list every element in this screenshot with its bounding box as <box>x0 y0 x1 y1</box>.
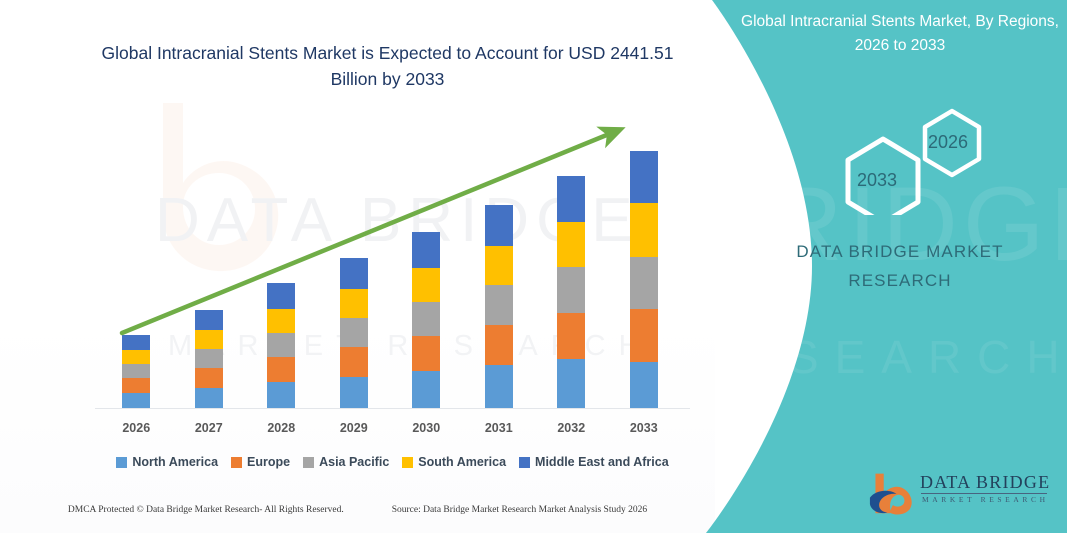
data-bridge-logo: DATA BRIDGE MARKET RESEARCH <box>868 468 1053 520</box>
bar-2032 <box>557 176 585 408</box>
hexagon-outlines-icon <box>720 85 1067 215</box>
bar-2030 <box>412 232 440 408</box>
legend-item[interactable]: South America <box>402 455 506 469</box>
legend-item[interactable]: Europe <box>231 455 290 469</box>
x-label-2031: 2031 <box>469 421 529 435</box>
legend-item[interactable]: North America <box>116 455 218 469</box>
x-label-2027: 2027 <box>179 421 239 435</box>
left-chart-panel: DATA BRIDGE MARKET RESEARCH Global Intra… <box>0 0 715 533</box>
bar-segment <box>485 285 513 325</box>
bar-segment <box>195 330 223 349</box>
bar-segment <box>340 258 368 289</box>
x-label-2026: 2026 <box>106 421 166 435</box>
bar-segment <box>557 313 585 359</box>
bar-segment <box>557 222 585 267</box>
bar-segment <box>412 302 440 336</box>
bar-segment <box>630 257 658 309</box>
legend-label: Asia Pacific <box>319 455 389 469</box>
right-watermark-research: RESEARCH <box>692 330 1067 384</box>
bar-segment <box>122 378 150 393</box>
bar-segment <box>267 333 295 357</box>
x-label-2033: 2033 <box>614 421 674 435</box>
bar-segment <box>122 393 150 408</box>
chart-x-axis-labels: 20262027202820292030203120322033 <box>100 421 680 443</box>
bar-segment <box>267 283 295 309</box>
bar-segment <box>485 246 513 285</box>
right-panel-title: Global Intracranial Stents Market, By Re… <box>740 10 1060 58</box>
brand-line-1: DATA BRIDGE MARKET <box>796 242 1003 261</box>
footer: DMCA Protected © Data Bridge Market Rese… <box>0 505 715 515</box>
bar-segment <box>557 359 585 408</box>
hex-label-2033: 2033 <box>857 170 897 191</box>
bar-2033 <box>630 151 658 408</box>
legend-item[interactable]: Middle East and Africa <box>519 455 669 469</box>
bar-segment <box>195 310 223 330</box>
bar-segment <box>630 151 658 203</box>
x-label-2029: 2029 <box>324 421 384 435</box>
infographic-root: DATA BRIDGE MARKET RESEARCH Global Intra… <box>0 0 1067 533</box>
bar-segment <box>340 377 368 408</box>
bar-segment <box>412 336 440 371</box>
logo-divider <box>921 493 1047 494</box>
legend-swatch-icon <box>231 457 242 468</box>
year-hexagons: 2026 2033 <box>720 85 1067 215</box>
bar-segment <box>412 371 440 408</box>
legend-swatch-icon <box>402 457 413 468</box>
bar-segment <box>267 309 295 333</box>
chart-legend: North AmericaEuropeAsia PacificSouth Ame… <box>95 455 690 469</box>
legend-swatch-icon <box>303 457 314 468</box>
bar-segment <box>195 368 223 388</box>
brand-line-2: RESEARCH <box>848 271 951 290</box>
bar-segment <box>122 335 150 350</box>
bar-segment <box>485 365 513 408</box>
bar-segment <box>122 350 150 364</box>
x-label-2030: 2030 <box>396 421 456 435</box>
bar-2031 <box>485 205 513 408</box>
bar-segment <box>122 364 150 378</box>
footer-source: Source: Data Bridge Market Research Mark… <box>392 505 647 515</box>
legend-swatch-icon <box>519 457 530 468</box>
bar-segment <box>630 203 658 257</box>
brand-name: DATA BRIDGE MARKET RESEARCH <box>740 238 1060 296</box>
bar-segment <box>340 289 368 318</box>
data-bridge-mark-icon <box>868 470 916 516</box>
chart-baseline <box>95 408 690 409</box>
bar-segment <box>340 347 368 377</box>
chart-plot-area <box>100 120 680 408</box>
right-panel-content: BRIDGE RESEARCH Global Intracranial Sten… <box>720 0 1067 533</box>
footer-copyright: DMCA Protected © Data Bridge Market Rese… <box>68 505 344 515</box>
legend-swatch-icon <box>116 457 127 468</box>
bar-segment <box>195 349 223 368</box>
stacked-bar-chart: 20262027202820292030203120322033 <box>0 0 715 533</box>
x-label-2028: 2028 <box>251 421 311 435</box>
bar-2028 <box>267 283 295 408</box>
bar-segment <box>485 325 513 365</box>
bar-segment <box>557 176 585 222</box>
logo-subtitle: MARKET RESEARCH <box>922 495 1049 504</box>
legend-item[interactable]: Asia Pacific <box>303 455 389 469</box>
bar-segment <box>630 309 658 362</box>
bar-2026 <box>122 335 150 408</box>
bar-segment <box>485 205 513 246</box>
bar-segment <box>630 362 658 408</box>
bar-segment <box>195 388 223 408</box>
bar-segment <box>412 268 440 302</box>
bar-segment <box>340 318 368 347</box>
logo-title: DATA BRIDGE <box>920 472 1050 493</box>
bar-2027 <box>195 310 223 408</box>
hex-label-2026: 2026 <box>928 132 968 153</box>
legend-label: Europe <box>247 455 290 469</box>
bar-2029 <box>340 258 368 408</box>
legend-label: Middle East and Africa <box>535 455 669 469</box>
x-label-2032: 2032 <box>541 421 601 435</box>
bar-segment <box>267 382 295 408</box>
legend-label: South America <box>418 455 506 469</box>
bar-segment <box>412 232 440 268</box>
bar-segment <box>557 267 585 313</box>
bar-segment <box>267 357 295 382</box>
legend-label: North America <box>132 455 218 469</box>
